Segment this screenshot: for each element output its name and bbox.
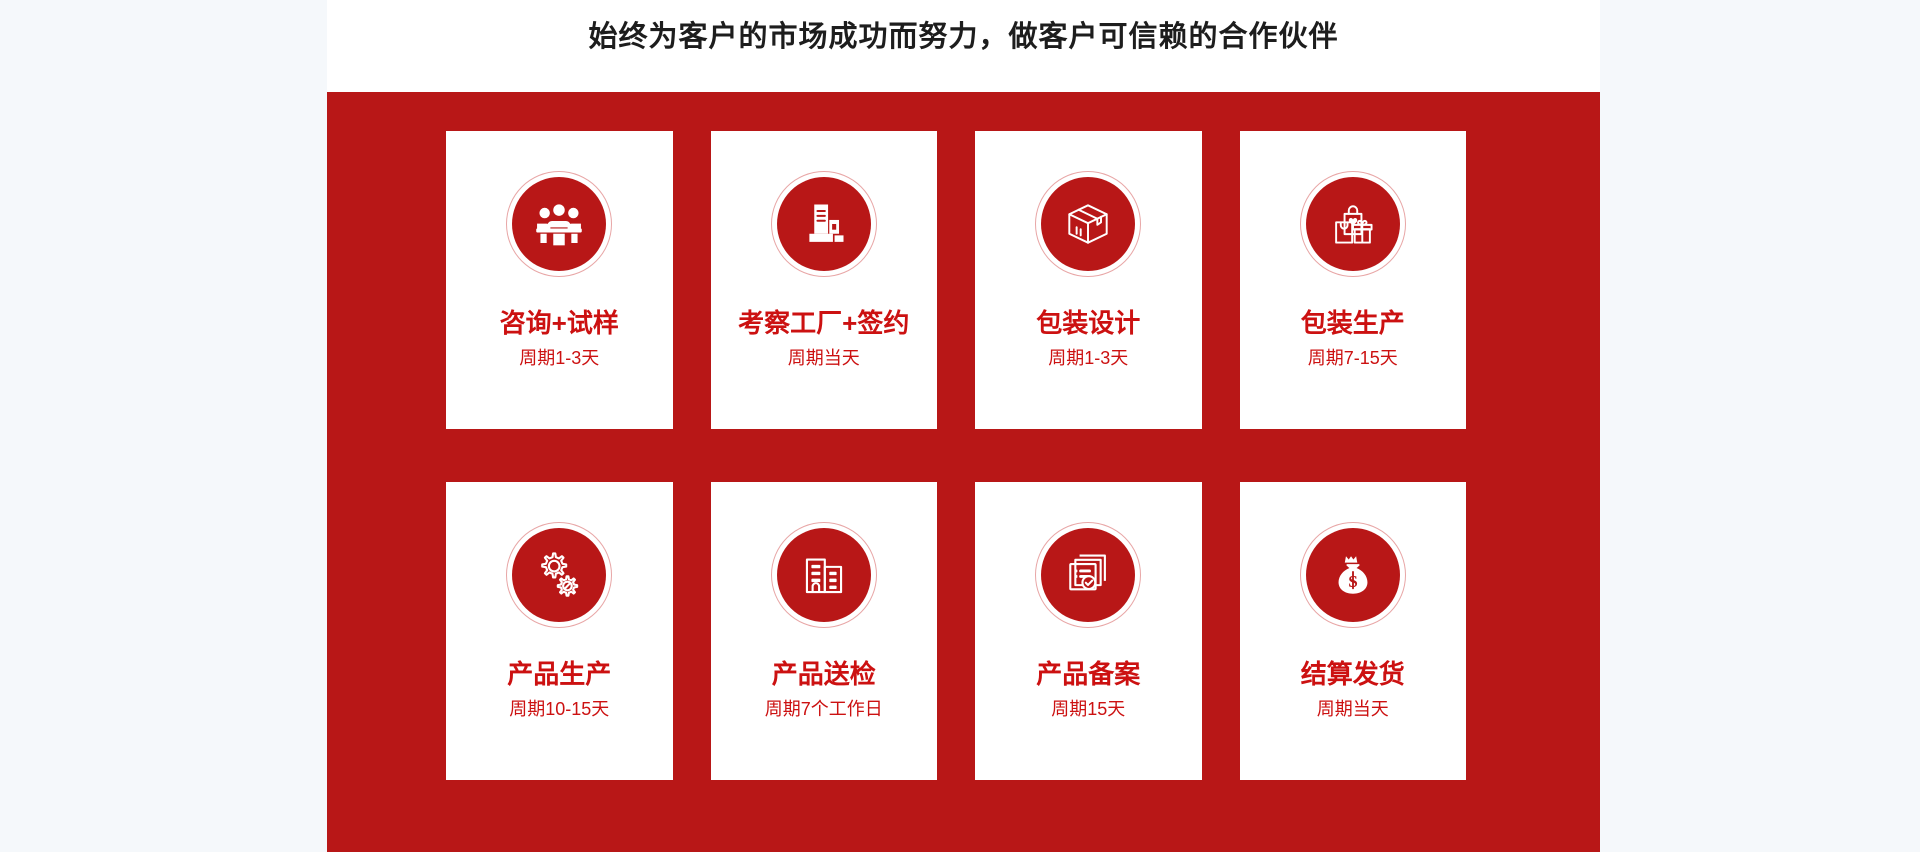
process-card-title: 结算发货: [1240, 660, 1467, 690]
process-card-title: 包装生产: [1240, 309, 1467, 339]
process-card-text: 考察工厂+签约 周期当天: [711, 309, 938, 369]
shopping-bag-gift-icon: [1306, 177, 1400, 271]
process-card-text: 包装设计 周期1-3天: [975, 309, 1202, 369]
process-card-subtitle: 周期当天: [1240, 699, 1467, 721]
factory-icon: [777, 177, 871, 271]
process-card[interactable]: 包装设计 周期1-3天: [975, 131, 1202, 429]
process-card[interactable]: 咨询+试样 周期1-3天: [446, 131, 673, 429]
process-card-text: 产品生产 周期10-15天: [446, 660, 673, 720]
page-root: 始终为客户的市场成功而努力，做客户可信赖的合作伙伴: [0, 0, 1920, 852]
package-box-icon: [1041, 177, 1135, 271]
documents-check-icon: [1041, 528, 1135, 622]
process-card[interactable]: 考察工厂+签约 周期当天: [711, 131, 938, 429]
process-card-title: 咨询+试样: [446, 309, 673, 339]
process-card-subtitle: 周期7个工作日: [711, 699, 938, 721]
process-card-text: 咨询+试样 周期1-3天: [446, 309, 673, 369]
process-card-title: 考察工厂+签约: [711, 309, 938, 339]
process-card-text: 包装生产 周期7-15天: [1240, 309, 1467, 369]
process-card-subtitle: 周期15天: [975, 699, 1202, 721]
process-card[interactable]: 产品送检 周期7个工作日: [711, 482, 938, 780]
process-card-subtitle: 周期1-3天: [975, 348, 1202, 370]
process-card-subtitle: 周期7-15天: [1240, 348, 1467, 370]
process-card-row: 咨询+试样 周期1-3天: [446, 131, 1466, 429]
page-title: 始终为客户的市场成功而努力，做客户可信赖的合作伙伴: [588, 23, 1338, 52]
gears-icon: [512, 528, 606, 622]
process-card-title: 产品生产: [446, 660, 673, 690]
money-bag-icon: S: [1306, 528, 1400, 622]
process-card[interactable]: 包装生产 周期7-15天: [1240, 131, 1467, 429]
process-card-text: 产品送检 周期7个工作日: [711, 660, 938, 720]
buildings-icon: [777, 528, 871, 622]
process-card-grid: 咨询+试样 周期1-3天: [446, 131, 1466, 780]
process-card-subtitle: 周期10-15天: [446, 699, 673, 721]
process-card-title: 产品备案: [975, 660, 1202, 690]
process-card-subtitle: 周期1-3天: [446, 348, 673, 370]
process-card[interactable]: S 结算发货 周期当天: [1240, 482, 1467, 780]
process-card-row: 产品生产 周期10-15天: [446, 482, 1466, 780]
header-band: 始终为客户的市场成功而努力，做客户可信赖的合作伙伴: [327, 0, 1600, 92]
process-panel: 咨询+试样 周期1-3天: [327, 92, 1600, 852]
process-card-title: 产品送检: [711, 660, 938, 690]
process-card[interactable]: 产品生产 周期10-15天: [446, 482, 673, 780]
process-card-text: 结算发货 周期当天: [1240, 660, 1467, 720]
process-card-title: 包装设计: [975, 309, 1202, 339]
meeting-people-icon: [512, 177, 606, 271]
process-card-subtitle: 周期当天: [711, 348, 938, 370]
process-card[interactable]: 产品备案 周期15天: [975, 482, 1202, 780]
process-card-text: 产品备案 周期15天: [975, 660, 1202, 720]
